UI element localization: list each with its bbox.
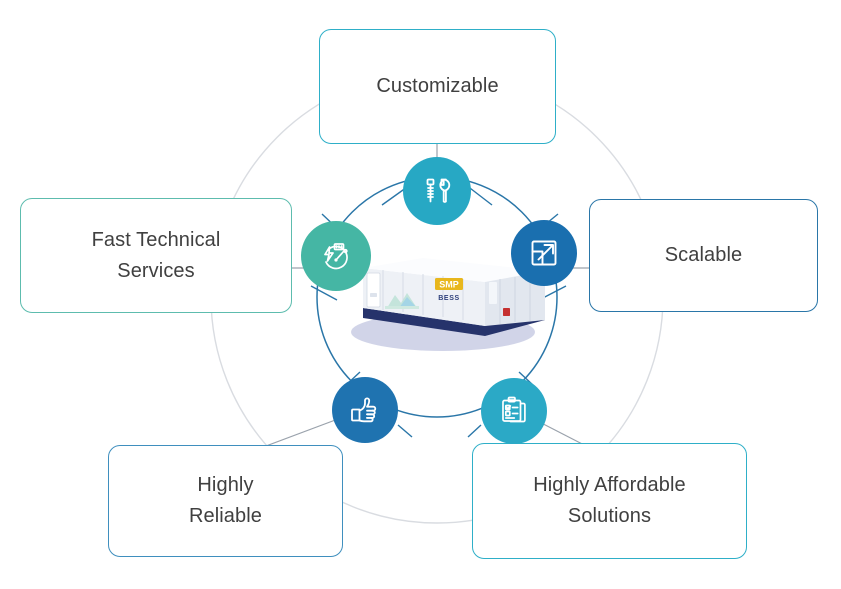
icon-bubble-fast-technical-services[interactable] [301,221,371,291]
feature-label-highly-affordable-solutions: Highly Affordable Solutions [523,470,696,532]
icon-bubble-highly-affordable-solutions[interactable] [481,378,547,444]
feature-label-line-1: Fast Technical [92,229,221,251]
feature-label-line-1: Highly Affordable [533,474,686,496]
expand-arrow-icon [526,235,562,271]
icon-bubble-highly-reliable[interactable] [332,377,398,443]
feature-box-highly-affordable-solutions[interactable]: Highly Affordable Solutions [472,443,747,559]
door-handle [370,293,377,297]
feature-box-fast-technical-services[interactable]: Fast Technical Services [20,198,292,313]
model-text: BESS [438,295,459,302]
feature-label-fast-technical-services: Fast Technical Services [82,225,231,287]
feature-label-line-2: Reliable [189,505,262,527]
icon-bubble-customizable[interactable] [403,157,471,225]
feature-label-highly-reliable: Highly Reliable [179,470,272,532]
icon-bubble-scalable[interactable] [511,220,577,286]
feature-box-highly-reliable[interactable]: Highly Reliable [108,445,343,557]
service-door [367,273,380,307]
end-vent-panel [489,282,497,304]
feature-label-line-2: Services [117,260,195,282]
status-indicator [503,308,510,316]
feature-label-line-2: Solutions [568,505,651,527]
feature-label-line-1: Highly [197,474,253,496]
clipboard-checklist-icon [495,392,533,430]
feature-label-customizable: Customizable [366,71,508,102]
feature-box-customizable[interactable]: Customizable [319,29,556,144]
brand-badge: SMP BESS [435,278,463,302]
brand-badge-text: SMP [439,280,459,290]
feature-box-scalable[interactable]: Scalable [589,199,818,312]
tools-icon [419,173,455,209]
fast-service-gauge-icon [316,236,356,276]
feature-label-scalable: Scalable [655,240,753,271]
thumbs-up-icon [346,391,384,429]
diagram-canvas: SMP BESS [0,0,841,589]
